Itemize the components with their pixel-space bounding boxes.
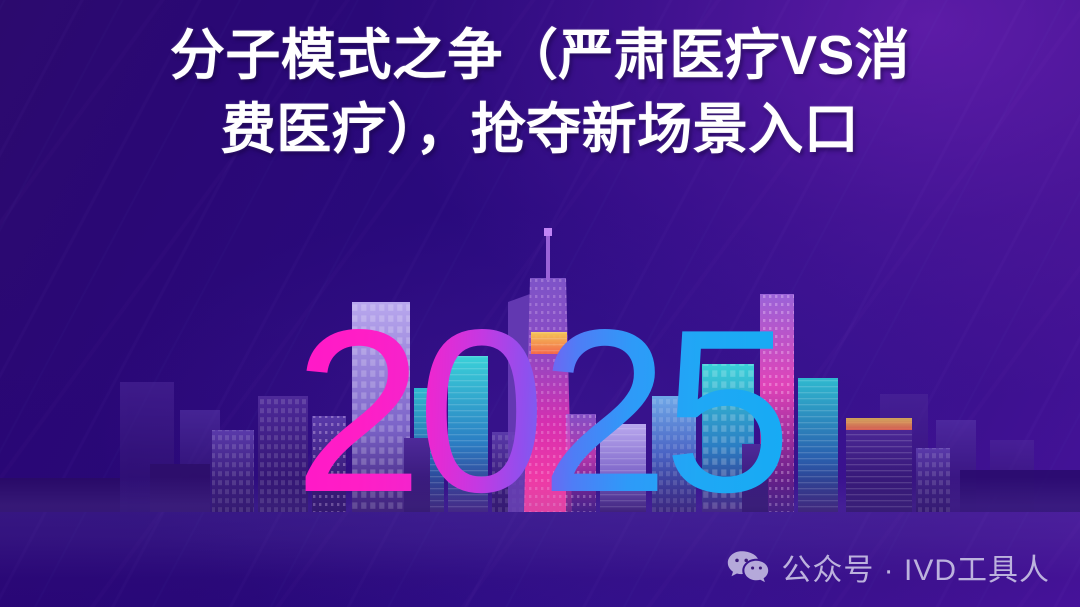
slide-title: 分子模式之争（严肃医疗VS消 费医疗），抢夺新场景入口 bbox=[0, 18, 1080, 166]
wechat-icon bbox=[727, 550, 769, 591]
cityscape-reflection bbox=[0, 599, 1080, 607]
presentation-slide: 2025 分子模式之争（严肃医疗VS消 费医疗），抢夺新场景入口 公众号 · I… bbox=[0, 0, 1080, 607]
watermark: 公众号 · IVD工具人 bbox=[727, 550, 1050, 591]
title-line-2: 费医疗），抢夺新场景入口 bbox=[26, 92, 1054, 166]
title-line-1: 分子模式之争（严肃医疗VS消 bbox=[26, 18, 1054, 92]
cityscape-illustration bbox=[0, 182, 1080, 512]
watermark-text: 公众号 · IVD工具人 bbox=[781, 554, 1050, 588]
